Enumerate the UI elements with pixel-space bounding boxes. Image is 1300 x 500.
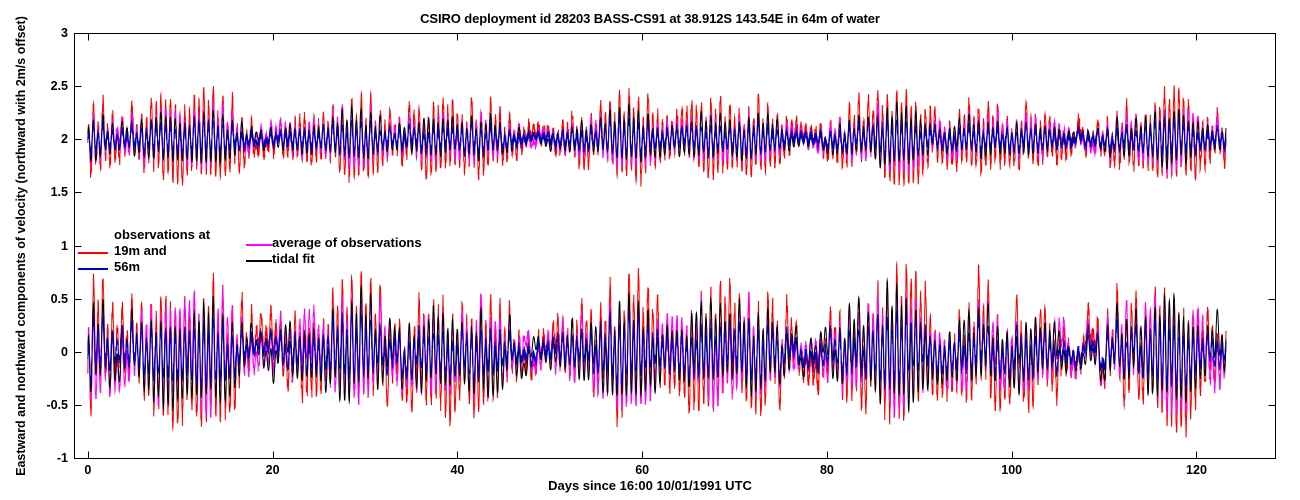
legend-swatch-3 — [246, 244, 272, 246]
legend-label-2: 56m — [114, 259, 140, 274]
x-tick-label: 40 — [450, 463, 464, 477]
y-tick-label: 0 — [61, 345, 68, 359]
x-tick-label: 80 — [820, 463, 834, 477]
y-tick-label: 3 — [61, 26, 68, 40]
legend-swatch-2 — [78, 268, 108, 270]
y-tick-label: 2 — [61, 132, 68, 146]
y-axis-label: Eastward and northward components of vel… — [14, 0, 28, 496]
chart-figure: CSIRO deployment id 28203 BASS-CS91 at 3… — [0, 0, 1300, 500]
legend-swatch-1 — [78, 252, 108, 254]
x-axis-label: Days since 16:00 10/01/1991 UTC — [0, 478, 1300, 493]
x-tick-label: 100 — [1001, 463, 1022, 477]
y-tick-label: 2.5 — [51, 79, 68, 93]
legend-label-1: 19m and — [114, 243, 167, 258]
x-tick-label: 120 — [1186, 463, 1207, 477]
x-tick-label: 0 — [84, 463, 91, 477]
y-tick-label: 1.5 — [51, 185, 68, 199]
y-tick-label: -0.5 — [46, 398, 68, 412]
legend-label-0: observations at — [114, 227, 210, 242]
legend-label-3: average of observations — [272, 235, 422, 250]
legend-swatch-4 — [246, 260, 272, 262]
x-tick-label: 60 — [635, 463, 649, 477]
y-tick-label: 1 — [61, 239, 68, 253]
chart-title: CSIRO deployment id 28203 BASS-CS91 at 3… — [0, 11, 1300, 26]
y-tick-label: -1 — [57, 451, 68, 465]
x-tick-label: 20 — [266, 463, 280, 477]
y-tick-label: 0.5 — [51, 292, 68, 306]
timeseries-plot-canvas — [0, 0, 1300, 500]
legend-label-4: tidal fit — [272, 251, 315, 266]
